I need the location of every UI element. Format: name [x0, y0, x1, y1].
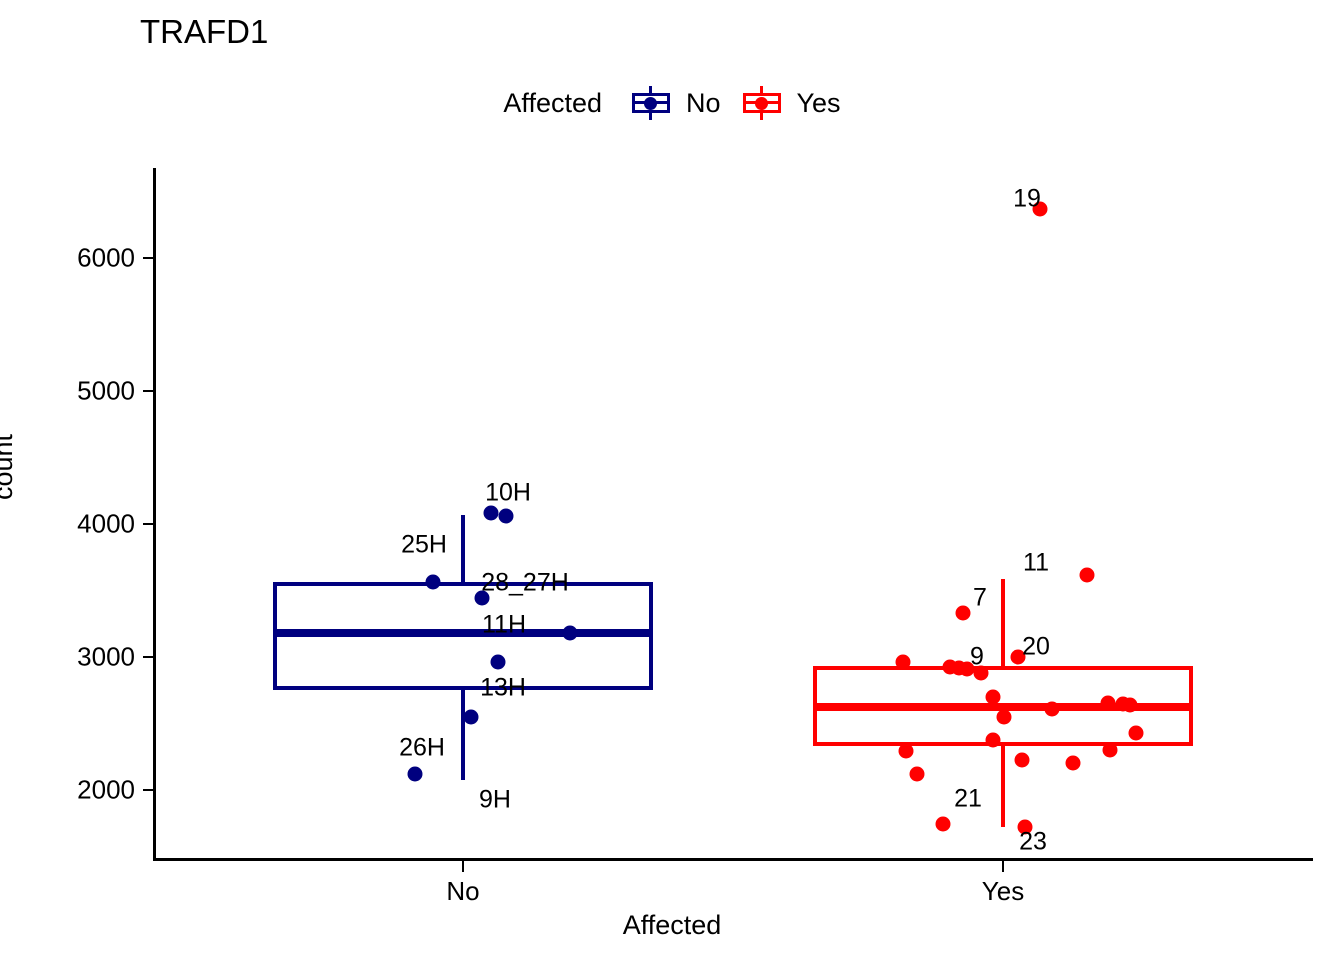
y-axis-tick-label: 5000	[77, 376, 135, 407]
x-axis-line	[153, 858, 1313, 861]
data-point[interactable]	[408, 767, 423, 782]
boxplot-upper-whisker	[1001, 579, 1005, 665]
y-axis-tick	[143, 656, 155, 658]
data-point[interactable]	[499, 509, 514, 524]
x-axis-tick	[462, 861, 464, 872]
y-axis-tick	[143, 789, 155, 791]
data-point[interactable]	[1080, 567, 1095, 582]
boxplot-point-key-icon	[739, 86, 785, 120]
data-point-label: 20	[1022, 633, 1050, 662]
y-axis-title: count	[0, 434, 19, 500]
data-point[interactable]	[899, 744, 914, 759]
data-point-label: 10H	[485, 479, 531, 508]
data-point[interactable]	[1066, 756, 1081, 771]
data-point-label: 25H	[401, 531, 447, 560]
data-point-label: 9	[970, 643, 984, 672]
y-axis-tick-label: 6000	[77, 243, 135, 274]
data-point-label: 9H	[479, 786, 511, 815]
boxplot-lower-whisker	[1001, 746, 1005, 827]
data-point[interactable]	[986, 689, 1001, 704]
data-point[interactable]	[491, 654, 506, 669]
data-point-label: 11H	[482, 611, 526, 640]
data-point[interactable]	[1129, 725, 1144, 740]
y-axis-tick	[143, 523, 155, 525]
data-point-label: 7	[973, 584, 987, 613]
legend-label-no: No	[686, 88, 721, 119]
x-axis-tick	[1002, 861, 1004, 872]
data-point[interactable]	[1103, 743, 1118, 758]
data-point[interactable]	[986, 733, 1001, 748]
data-point-label: 28_27H	[481, 569, 569, 598]
legend-entry-yes[interactable]: Yes	[739, 86, 841, 120]
x-axis-tick-label: Yes	[982, 876, 1024, 907]
data-point[interactable]	[1101, 695, 1116, 710]
legend-title: Affected	[503, 88, 602, 119]
boxplot-median-line	[273, 629, 653, 637]
data-point[interactable]	[997, 709, 1012, 724]
legend-label-yes: Yes	[797, 88, 841, 119]
data-point-label: 13H	[480, 674, 526, 703]
x-axis-title: Affected	[0, 910, 1344, 941]
data-point[interactable]	[936, 816, 951, 831]
y-axis-tick-label: 4000	[77, 509, 135, 540]
x-axis-tick-label: No	[446, 876, 479, 907]
y-axis-tick	[143, 257, 155, 259]
data-point-label: 23	[1019, 828, 1047, 857]
data-point-label: 21	[954, 785, 982, 814]
data-point[interactable]	[910, 767, 925, 782]
boxplot-point-key-icon	[628, 86, 674, 120]
legend: Affected No Yes	[0, 86, 1344, 120]
legend-entry-no[interactable]: No	[628, 86, 721, 120]
y-axis-line	[153, 168, 156, 858]
data-point[interactable]	[426, 574, 441, 589]
data-point-label: 26H	[399, 734, 445, 763]
data-point[interactable]	[464, 709, 479, 724]
y-axis-tick	[143, 390, 155, 392]
data-point-label: 19	[1013, 185, 1041, 214]
boxplot-upper-whisker	[461, 515, 465, 582]
data-point[interactable]	[1015, 753, 1030, 768]
data-point-label: 11	[1023, 549, 1049, 578]
page-title: TRAFD1	[140, 12, 268, 52]
data-point[interactable]	[956, 606, 971, 621]
boxplot-lower-whisker	[461, 690, 465, 780]
data-point[interactable]	[1045, 701, 1060, 716]
y-axis-tick-label: 3000	[77, 642, 135, 673]
data-point[interactable]	[563, 626, 578, 641]
data-point[interactable]	[1123, 697, 1138, 712]
y-axis-tick-label: 2000	[77, 775, 135, 806]
data-point[interactable]	[896, 655, 911, 670]
chart-root: TRAFD1 Affected No Yes Affected count 20…	[0, 0, 1344, 960]
